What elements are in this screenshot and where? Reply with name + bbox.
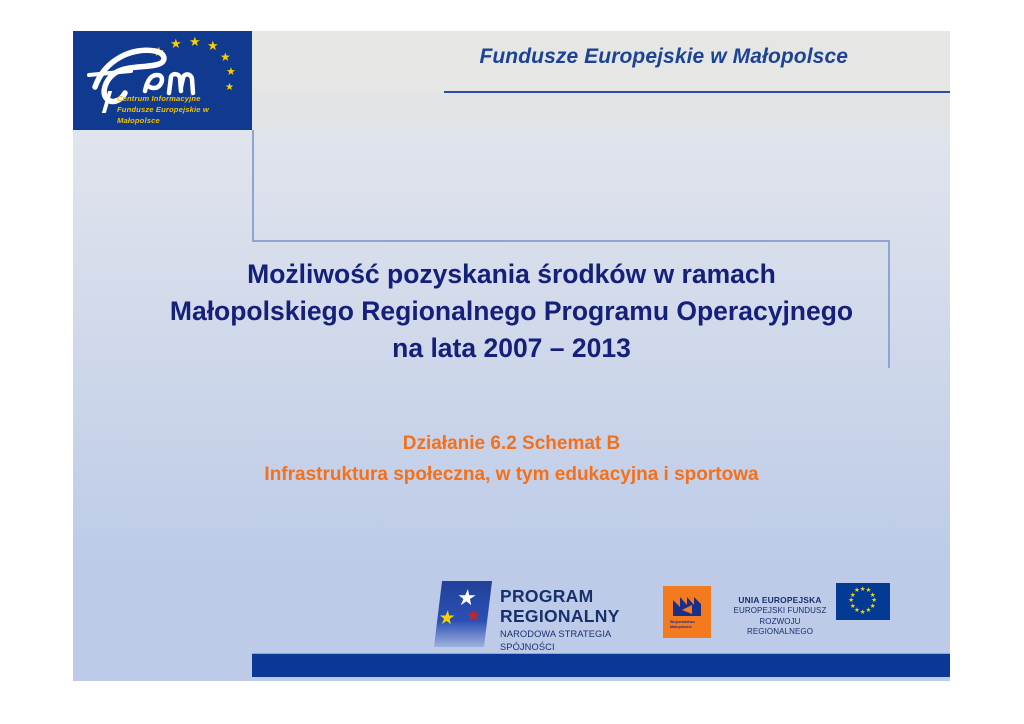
header-rule [444,91,950,93]
eu-line-2: EUROPEJSKI FUNDUSZ [730,606,830,617]
nss-line-2: REGIONALNY [500,607,638,627]
bottom-accent-bar [252,653,950,677]
title-line-2: Małopolskiego Regionalnego Programu Oper… [73,293,950,330]
footer-logo-strip: ★ ★ ★ PROGRAM REGIONALNY NARODOWA STRATE… [438,579,888,651]
eu-line-1: UNIA EUROPEJSKA [730,595,830,606]
eu-flag-star-icon: ★ [866,608,872,615]
nss-line-1: PROGRAM [500,587,638,607]
fem-subtitle-line1: Centrum Informacyjne [117,94,201,103]
subtitle-line-2: Infrastruktura społeczna, w tym edukacyj… [73,459,950,490]
connector-line-vertical-left [252,130,254,241]
malopolska-line-1: Województwo [670,620,695,624]
eu-flag-icon: ★★★★★★★★★★★★ [836,583,890,620]
eu-flag-star-icon: ★ [854,588,860,595]
header-title: Fundusze Europejskie w Małopolsce [479,45,848,69]
subtitle-line-1: Działanie 6.2 Schemat B [73,428,950,459]
fem-subtitle-line2: Fundusze Europejskie w Małopolsce [117,105,209,125]
malopolska-text: Województwo Małopolskie [670,620,706,630]
fem-logo: ★ ★ ★ ★ ★ ★ ★ Centrum Informacyjne Fundu… [73,31,252,130]
crown-icon [672,596,702,617]
program-regionalny-logo: ★ ★ ★ PROGRAM REGIONALNY NARODOWA STRATE… [438,581,638,647]
malopolska-region-logo: Województwo Małopolskie [663,586,711,638]
eu-flag-star-icon: ★ [860,610,866,617]
title-line-3: na lata 2007 – 2013 [73,330,950,367]
eu-flag-star-icon: ★ [848,598,854,605]
nss-emblem-icon: ★ ★ ★ [434,581,492,647]
slide-title: Możliwość pozyskania środków w ramach Ma… [73,256,950,367]
eu-text-block: UNIA EUROPEJSKA EUROPEJSKI FUNDUSZ ROZWO… [730,595,830,638]
presentation-slide: Fundusze Europejskie w Małopolsce ★ ★ ★ … [73,31,950,681]
eu-flag-star-icon: ★ [850,604,856,611]
fem-logo-subtitle: Centrum Informacyjne Fundusze Europejski… [117,93,252,126]
nss-line-3: NARODOWA STRATEGIA SPÓJNOŚCI [500,628,638,654]
slide-subtitle: Działanie 6.2 Schemat B Infrastruktura s… [73,428,950,490]
european-union-logo: UNIA EUROPEJSKA EUROPEJSKI FUNDUSZ ROZWO… [730,583,890,645]
title-line-1: Możliwość pozyskania środków w ramach [73,256,950,293]
connector-line-horizontal [252,240,890,242]
eu-line-3: ROZWOJU REGIONALNEGO [730,617,830,638]
header-band-lower [252,93,950,130]
malopolska-line-2: Małopolskie [670,625,692,629]
nss-text-block: PROGRAM REGIONALNY NARODOWA STRATEGIA SP… [500,587,638,654]
